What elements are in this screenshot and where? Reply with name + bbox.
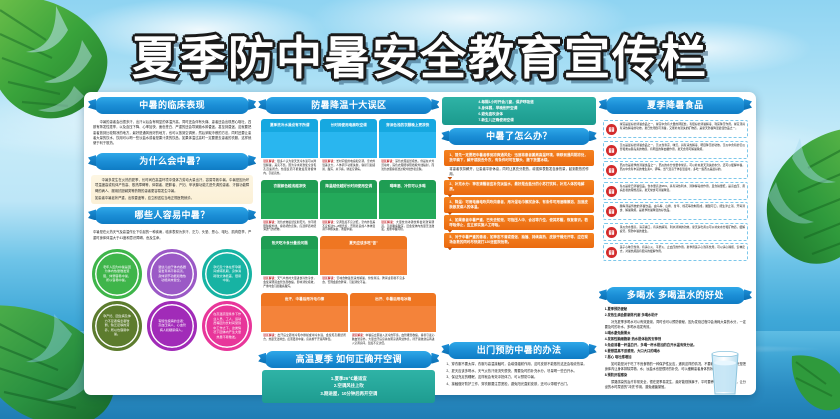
aircon-tip-item: 7.新生儿正确使用空调: [478, 117, 595, 123]
risk-group-circle: 在高温高湿条件下作业人员、工人、运动员等因为长时间受到中工作之下，这类情况下因体…: [202, 301, 252, 351]
firstaid-step-bar: 5、对于中暑严重的患者，如神志不清或昏迷、抽搐、持续高热、皮肤干燥无汗等，应在现…: [444, 233, 593, 248]
misconception-title: 长时间使用电扇吹空调: [320, 119, 377, 132]
firstaid-step-bar: 4、如果患者中暑严重，已失去知觉，可指压人中、合谷等穴位，使其苏醒，恢复意识。若…: [444, 215, 593, 230]
misconception-card: 衣服颜色越浅越凉快误区解读：浅色衣物虽然反射阳光，但不能阻隔紫外线，容易晒伤皮肤…: [261, 180, 318, 235]
book-icon: [606, 165, 617, 176]
misconception-title: 喝啤酒、冷饮可以多喝: [379, 180, 436, 193]
food-list: 绿豆是最好的消暑食品之一，绿豆中含有大量的钾镁盐，有很好的消暑解毒、利尿降压作用…: [600, 117, 751, 261]
food-item-text: 莲子心味苦性寒，有清心火、平肝火、止血压的作用。夏季用莲子心泡茶饮用，可以清心除…: [620, 246, 745, 254]
misconception-body: 误区解读：长时间使用电扇和空调，室内外温差过大，人体调节功能失衡，容易引起感冒、…: [320, 158, 377, 174]
misconception-card: 热天吃冷食分量没问题误区解读：天气炎热时大量进食冷饮冷食，会使胃肠道血管急剧收缩…: [261, 236, 318, 291]
aircon-tip-item: 1.夏季26℃最适宜: [268, 375, 429, 383]
food-item-text: 酸梅汤是传统的消暑饮品，由乌梅、山楂、甘草、桂花等熬制而成，酸甜可口，能生津止渴…: [620, 205, 745, 213]
aircon-tips-list: 1.夏季26℃最适宜2.空调风往上吹3.刚进屋，10分钟后再开空调: [262, 370, 435, 403]
misconception-title: 降温越低越好长时间使用空调: [320, 180, 377, 193]
water-benefits-list-1: 1.夏季预防便秘2.发热生病会影新陈代谢 多喝水助汗: [605, 307, 746, 319]
food-item: 苦瓜是最好的消暑食品之一，苦瓜性寒凉、味苦，具有清热解毒、明目降压的功效，苦瓜中…: [603, 141, 748, 159]
food-item: 酸梅汤是传统的消暑饮品，由乌梅、山楂、甘草、桂花等熬制而成，酸甜可口，能生津止渴…: [603, 202, 748, 220]
misconception-card: 夏天应该多吃"苦"误区解读：苦味食物虽然清热解暑，但性寒凉，脾胃虚弱者不宜多食，…: [320, 236, 407, 291]
misconception-body: 误区解读：出汗后立即用冷毛巾擦拭或冲冷水澡，会使毛孔骤然闭合，热量无法排出，反而…: [261, 332, 348, 344]
risk-group-text: 婴幼儿由于体内各器官发育尚不够完善，身体调节功能和散热功能尚未健全。: [158, 265, 186, 283]
risk-group-circle: 婴幼儿由于体内各器官发育尚不够完善，身体调节功能和散热功能尚未健全。: [147, 249, 197, 299]
firstaid-step-bar: 3、降温：可用电扇电吹风吹向患者，用冷湿毛巾擦拭身体，有条件可用酒精擦浴，加速皮…: [444, 197, 593, 212]
monstera-leaf-right: [760, 120, 840, 270]
book-icon: [606, 227, 617, 238]
misconception-title: 出汗、中暑后用电冰箱: [350, 293, 437, 306]
aircon-tips-continued: 4.每隔1小时开会儿窗，保护呼吸道5.身体弱，早晚别开空调6.避免直吹身体7.新…: [442, 97, 595, 125]
section-header-why: 为什么会中暑？: [95, 153, 249, 170]
misconception-image: [261, 249, 318, 275]
food-item-text: 绿豆是最好的消暑食品之一，绿豆中含有大量的钾镁盐，有很好的消暑解毒、利尿降压作用…: [620, 123, 745, 131]
food-item: 绿豆是最好的消暑食品之一，绿豆中含有大量的钾镁盐，有很好的消暑解毒、利尿降压作用…: [603, 120, 748, 138]
firstaid-step: 3、降温：可用电扇电吹风吹向患者，用冷湿毛巾擦拭身体，有条件可用酒精擦浴，加速皮…: [444, 197, 593, 212]
section-header-misconceptions: 防暑降温十大误区: [265, 97, 432, 114]
firstaid-step: 1、首先一定要把中暑者移到凉爽通风处：迅速将患者搬离高温环境，转移到通风阴凉处，…: [444, 150, 593, 177]
food-item-text: 西瓜也是夏季的消暑食品之一，西瓜的水分含量非常高，可以补充夏天流失的水分，还可以…: [620, 164, 745, 172]
misconception-image: [320, 249, 407, 275]
column-clinical: 中暑的临床表现 中暑的患者会出很多汗，出汗以后会有明显的体温升高，同时还会伴有头…: [89, 97, 255, 391]
risk-group-circle: 孕妇及个体在怀孕期间或哺乳期，身体消耗较大体能差，很易中暑。: [202, 249, 252, 299]
misconception-image: [320, 132, 377, 158]
outdoor-tip-item: 1、穿衣服不要太厚，衣服与高温接触时，会增强辐射作用，这时皮肤不能散热这还会吸收…: [446, 362, 591, 367]
book-icon: [606, 247, 617, 258]
firstaid-steps: 1、首先一定要把中暑者移到凉爽通风处：迅速将患者搬离高温环境，转移到通风阴凉处，…: [442, 148, 595, 250]
misconception-card: 出汗、中暑后用电冰箱误区解读：中暑后立即进入过冷的环境，血管骤然收缩，容易引发心…: [350, 293, 437, 348]
misconception-card: 喝啤酒、冷饮可以多喝误区解读：大量饮用冰镇饮料会刺激胃肠道，引起腹痛腹泻，还会使…: [379, 180, 436, 235]
misconception-title: 夏天应该多吃"苦": [320, 236, 407, 249]
book-icon: [606, 145, 617, 156]
section-header-who: 哪些人容易中暑？: [95, 207, 249, 224]
misconception-body: 误区解读：天气炎热时大量进食冷饮冷食，会使胃肠道血管急剧收缩，影响消化吸收，严重…: [261, 275, 318, 291]
risk-group-circle: 老年人因为中暑是因为体内热量散发受阻，体弱容易中暑，所以容易中暑。: [92, 249, 142, 299]
misconception-card: 降温越低越好长时间使用空调误区解读：空调温度不宜过低，室内外温差不宜超过5—8摄…: [320, 180, 377, 235]
water-benefit-item: 2.发热生病会影新陈代谢 多喝水助汗: [605, 313, 746, 319]
misconception-image: [379, 132, 436, 158]
misconception-card: 长时间使用电扇吹空调误区解读：长时间使用电扇和空调，室内外温差过大，人体调节功能…: [320, 119, 377, 178]
clinical-body: 中暑的患者会出很多汗，出汗以后会有明显的体温升高，同时还会伴有头痛、患者还会出现…: [89, 117, 255, 150]
who-intro: 中暑是在炎热天气及高温作业下引起的一种疾病，临床表现为多汗、乏力、头晕、恶心、呕…: [89, 227, 255, 242]
column-firstaid: 4.每隔1小时开会儿窗，保护呼吸道5.身体弱，早晚别开空调6.避免直吹身体7.新…: [442, 97, 595, 391]
outdoor-tip-item: 3、保证充足的睡眠，这样就会有效冲抵体力，可以预防中暑。: [446, 375, 591, 380]
misconception-title: 衣服颜色越浅越凉快: [261, 180, 318, 193]
food-item: 冬瓜是夏日消暑佳品，含水量高达96%，具有清热利水、消肿解毒的作用，且含钠量低，…: [603, 182, 748, 200]
misconception-grid: 夏季洗冷水澡没有不所谓误区解读：很多人认为夏天洗冷水澡可以降温解暑，其实不然。因…: [259, 117, 438, 348]
water-body: 1.夏季预防便秘2.发热生病会影新陈代谢 多喝水助汗 补充夏季多喝水可以有效退烧…: [600, 304, 751, 390]
risk-group-circle: 有慢性疾病的患者：高血压病人、心血管病人和糖尿病人。: [147, 301, 197, 351]
content-board: 中暑的临床表现 中暑的患者会出很多汗，出汗以后会有明显的体温升高，同时还会伴有头…: [84, 92, 756, 395]
water-glass-image: [705, 350, 745, 398]
aircon-tip-item: 2.空调风往上吹: [268, 382, 429, 390]
who-intro-text: 中暑是在炎热天气及高温作业下引起的一种疾病，临床表现为多汗、乏力、头晕、恶心、呕…: [93, 230, 251, 241]
section-header-outdoor: 出门预防中暑的办法: [448, 342, 589, 359]
food-item: 黄瓜含水量高，清凉爽口，有清热解渴、利水消肿的功效。夏天多吃黄瓜可以补充水分和矿…: [603, 223, 748, 241]
misconception-body: 误区解读：空调温度不宜过低，室内外温差不宜超过5—8摄氏度，否则易造成人体体温调…: [320, 219, 377, 235]
food-item-text: 苦瓜是最好的消暑食品之一，苦瓜性寒凉、味苦，具有清热解毒、明目降压的功效，苦瓜中…: [620, 144, 745, 152]
misconception-image: [261, 193, 318, 219]
misconception-body: 误区解读：苦味食物虽然清热解暑，但性寒凉，脾胃虚弱者不宜多食，否则会损伤脾胃，引…: [320, 275, 407, 287]
firstaid-step: 2、补充水分：神志清醒者应补充淡盐水，最好是含盐分的小苏打饮料，补充人体的电解质…: [444, 180, 593, 195]
firstaid-step-bar: 1、首先一定要把中暑者移到凉爽通风处：迅速将患者搬离高温环境，转移到通风阴凉处，…: [444, 150, 593, 165]
misconception-image: [261, 132, 318, 158]
book-icon: [606, 186, 617, 197]
outdoor-tips-body: 1、穿衣服不要太厚，衣服与高温接触时，会增强辐射作用，这时皮肤不能散热这还会吸收…: [442, 359, 595, 391]
risk-group-text: 孕产妇、因生病及体力不足者病患者较弱、缺乏足够的营养，所以也容易中暑。: [103, 314, 131, 336]
firstaid-step-text: 将患者衣扣解开，让患者平卧休息，同时让其充分散热，增强体表散发自身热量，起到散热…: [444, 166, 593, 178]
section-header-aircon: 高温夏季 如何正确开空调: [265, 351, 432, 368]
misconception-body: 误区解读：深色衣服虽然吸热，但是在户外活动时，深色衣服能够阻挡紫外线辐射，而浅色…: [379, 158, 436, 174]
risk-group-circle: 孕产妇、因生病及体力不足者病患者较弱、缺乏足够的营养，所以也容易中暑。: [92, 301, 142, 351]
risk-group-text: 在高温高湿条件下作业人员、工人、运动员等因为长时间受到中工作之下，这类情况下因体…: [213, 312, 241, 339]
firstaid-step: 5、对于中暑严重的患者，如神志不清或昏迷、抽搐、持续高热、皮肤干燥无汗等，应在现…: [444, 233, 593, 248]
food-item-text: 黄瓜含水量高，清凉爽口，有清热解渴、利水消肿的功效。夏天多吃黄瓜可以补充水分和矿…: [620, 226, 745, 234]
aircon-tip-item: 3.刚进屋，10分钟后再开空调: [268, 390, 429, 398]
column-food-water: 夏季降暑食品 绿豆是最好的消暑食品之一，绿豆中含有大量的钾镁盐，有很好的消暑解毒…: [600, 97, 751, 391]
page-title: 夏季防中暑安全教育宣传栏: [0, 22, 840, 88]
food-item: 莲子心味苦性寒，有清心火、平肝火、止血压的作用。夏季用莲子心泡茶饮用，可以清心除…: [603, 243, 748, 261]
misconception-body: 误区解读：中暑后立即进入过冷的环境，血管骤然收缩，容易引发心脑血管意外。大量出汗…: [350, 332, 437, 348]
misconception-title: 出汗、中暑后用冷毛巾擦: [261, 293, 348, 306]
outdoor-tip-item: 2、夏天应该多喝水，天气炎热汗液流失很快，需要及时的补充水分。尽量喝一些白开水。: [446, 369, 591, 374]
misconception-image: [320, 193, 377, 219]
misconception-image: [379, 193, 436, 219]
why-body: 中暑多发生在炎热的夏季，长时间在高温环境中强体力劳动大量出汗，容易导致中暑。中暑…: [91, 175, 253, 204]
water-paragraph-1: 补充夏季多喝水可以有效退烧，同时也可以预防便秘，因为发烧过程中会消耗大量的水分，…: [605, 320, 746, 330]
book-icon: [606, 206, 617, 217]
food-item: 西瓜也是夏季的消暑食品之一，西瓜的水分含量非常高，可以补充夏天流失的水分，还可以…: [603, 161, 748, 179]
section-header-firstaid: 中暑了怎么办？: [448, 128, 589, 145]
outdoor-tip-item: 4、接触做好防护工作，穿衣服要注意宽松，避免阳光直射皮肤，还可以带帽子出门。: [446, 382, 591, 387]
misconception-card: 夏季洗冷水澡没有不所谓误区解读：很多人认为夏天洗冷水澡可以降温解暑，其实不然。因…: [261, 119, 318, 178]
clinical-paragraph: 中暑的患者会出很多汗，出汗以后会有明显的体温升高，同时还会伴有头痛、患者还会出现…: [93, 120, 251, 147]
misconception-image: [261, 306, 348, 332]
firstaid-step: 4、如果患者中暑严重，已失去知觉，可指压人中、合谷等穴位，使其苏醒，恢复意识。若…: [444, 215, 593, 230]
misconception-card: 穿深色浅的衣服晚上更凉快误区解读：深色衣服虽然吸热，但是在户外活动时，深色衣服能…: [379, 119, 436, 178]
risk-group-circles: 老年人因为中暑是因为体内热量散发受阻，体弱容易中暑，所以容易中暑。婴幼儿由于体内…: [89, 246, 255, 351]
misconception-title: 穿深色浅的衣服晚上更凉快: [379, 119, 436, 132]
food-item-text: 冬瓜是夏日消暑佳品，含水量高达96%，具有清热利水、消肿解毒的作用，且含钠量低，…: [620, 185, 745, 193]
book-icon: [606, 124, 617, 135]
why-paragraph-1: 中暑多发生在炎热的夏季，长时间在高温环境中强体力劳动大量出汗，容易导致中暑。中暑…: [95, 178, 249, 194]
why-paragraph-2: 如患者中暑症状严重，出现昏迷等，应立即送往当地正规医院就诊。: [95, 196, 249, 201]
section-header-water: 多喝水 多喝温水的好处: [606, 287, 745, 304]
risk-group-text: 有慢性疾病的患者：高血压病人、心血管病人和糖尿病人。: [158, 319, 186, 332]
misconception-title: 热天吃冷食分量没问题: [261, 236, 318, 249]
risk-group-text: 孕妇及个体在怀孕期间或哺乳期，身体消耗较大体能差，很易中暑。: [213, 265, 241, 283]
misconception-card: 出汗、中暑后用冷毛巾擦误区解读：出汗后立即用冷毛巾擦拭或冲冷水澡，会使毛孔骤然闭…: [261, 293, 348, 348]
risk-group-text: 老年人因为中暑是因为体内热量散发受阻，体弱容易中暑，所以容易中暑。: [103, 265, 131, 283]
misconception-body: 误区解读：浅色衣物虽然反射阳光，但不能阻隔紫外线，容易晒伤皮肤，应选择质地轻薄透…: [261, 219, 318, 235]
misconception-image: [350, 306, 437, 332]
section-header-clinical: 中暑的临床表现: [95, 97, 249, 114]
misconception-title: 夏季洗冷水澡没有不所谓: [261, 119, 318, 132]
firstaid-step-bar: 2、补充水分：神志清醒者应补充淡盐水，最好是含盐分的小苏打饮料，补充人体的电解质…: [444, 180, 593, 195]
misconception-body: 误区解读：大量饮用冰镇饮料会刺激胃肠道，引起腹痛腹泻，还会使体内热量无法散发，加…: [379, 219, 436, 235]
column-misconceptions: 防暑降温十大误区 夏季洗冷水澡没有不所谓误区解读：很多人认为夏天洗冷水澡可以降温…: [259, 97, 438, 391]
misconception-body: 误区解读：很多人认为夏天洗冷水澡可以降温解暑，其实不然。因为冷水刺激使全身毛孔迅…: [261, 158, 318, 178]
section-header-food: 夏季降暑食品: [606, 97, 745, 114]
